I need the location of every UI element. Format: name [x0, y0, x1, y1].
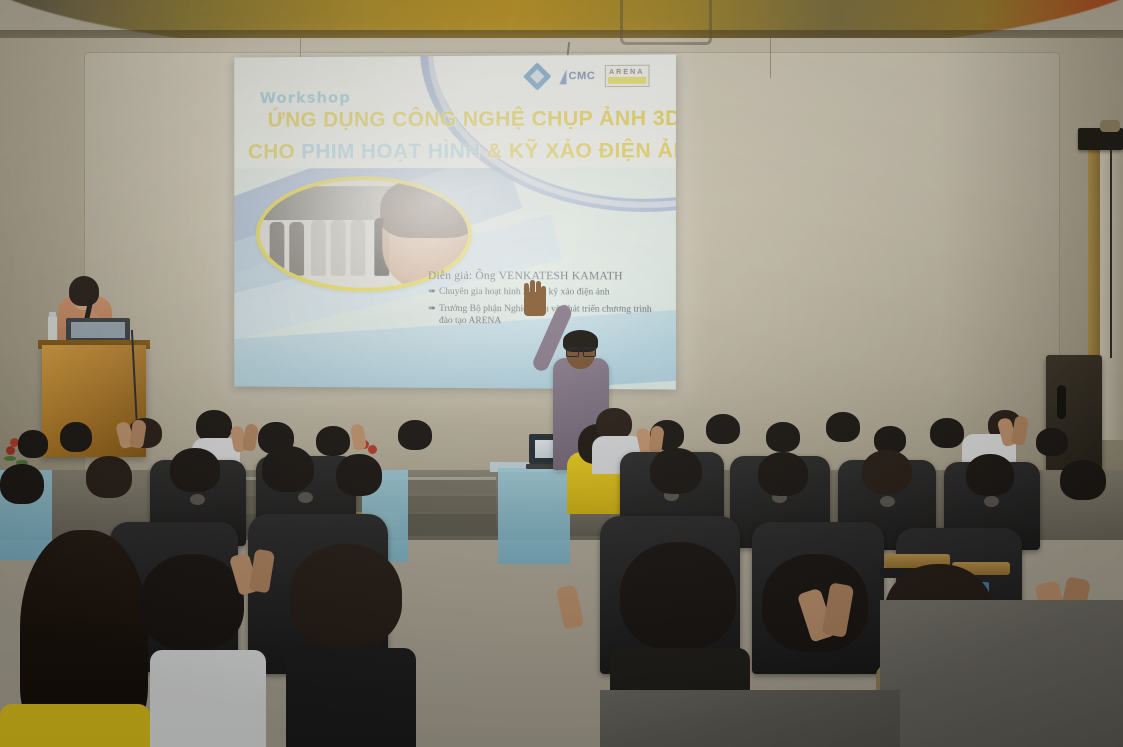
aisle-floor [880, 600, 1123, 747]
audience-head [262, 446, 314, 492]
audience-head [758, 452, 808, 496]
audience-head [336, 454, 382, 496]
cmc-logo-label: CMC [568, 70, 595, 82]
audience-head [766, 422, 800, 452]
audience-head [1060, 460, 1106, 500]
slide-eyebrow: Workshop [260, 89, 351, 107]
slide-title-line-1: ỨNG DỤNG CÔNG NGHỆ CHỤP ẢNH 3D [268, 107, 668, 133]
clapping-hand [350, 423, 366, 451]
audience-head [18, 430, 48, 458]
audience-head [316, 426, 350, 456]
audience-head [1036, 428, 1068, 456]
speaker-cable [1110, 150, 1112, 358]
aisle-floor-near [600, 690, 900, 747]
diamond-logo [524, 63, 550, 89]
slide-surface: CMC ARENA Workshop ỨNG DỤNG CÔNG NGHỆ CH… [234, 54, 676, 389]
audience-head [862, 450, 912, 494]
speaker-glasses-bridge [566, 348, 594, 356]
slide-speaker-info: Diễn giả: Ông VENKATESH KAMATH ➠ Chuyên … [428, 270, 668, 329]
audience-yellow-shirt [0, 704, 150, 747]
bullet-arrow-icon: ➠ [428, 287, 436, 299]
clapping-hand [556, 584, 584, 629]
auditorium-photo: CMC ARENA Workshop ỨNG DỤNG CÔNG NGHỆ CH… [0, 0, 1123, 747]
audience-head [620, 542, 736, 650]
audience-head [60, 422, 92, 452]
presenter-hair [69, 276, 99, 306]
arena-logo-label: ARENA [607, 68, 646, 75]
speaker-waving-hand [524, 292, 546, 316]
audience-head [86, 456, 132, 498]
audience-head [706, 414, 740, 444]
slide-logo-row: CMC ARENA [524, 63, 657, 90]
montage-face-hair [380, 176, 472, 238]
audience-head [826, 412, 860, 442]
audience-head [966, 454, 1014, 496]
audience-head [0, 464, 44, 504]
cmc-logo: CMC [559, 69, 595, 84]
audience-dark-shirt [286, 648, 416, 747]
projection-screen: CMC ARENA Workshop ỨNG DỤNG CÔNG NGHỆ CH… [234, 54, 676, 389]
wall-seam [770, 38, 771, 78]
audience-head [930, 418, 964, 448]
speaker-mount [1100, 120, 1120, 132]
audience-head [170, 448, 220, 492]
slide-title-part-a: CHO [248, 141, 301, 164]
audience-head [140, 554, 244, 650]
bullet-arrow-icon: ➠ [428, 304, 436, 328]
audience-head [290, 544, 402, 648]
arena-logo: ARENA [604, 65, 649, 87]
water-bottle [48, 316, 57, 342]
audience-white-shirt [150, 650, 266, 747]
audience-head [650, 448, 702, 494]
ceiling-bracket [620, 0, 712, 45]
slide-title-part-c: & KỸ XẢO ĐIỆN ẢNH SỐ [481, 139, 676, 163]
slide-speaker-line: Diễn giả: Ông VENKATESH KAMATH [428, 270, 668, 283]
slide-title-line-2: CHO PHIM HOẠT HÌNH & KỸ XẢO ĐIỆN ẢNH SỐ [248, 139, 668, 164]
bottle-cap [49, 312, 56, 317]
slide-bullet-1: ➠ Chuyên gia hoạt hình 3D và kỹ xảo điện… [428, 287, 668, 300]
audience-head [398, 420, 432, 450]
slide-title-part-b: PHIM HOẠT HÌNH [301, 140, 481, 163]
clapping-hand [242, 423, 259, 452]
right-wall-edge [1100, 140, 1123, 440]
